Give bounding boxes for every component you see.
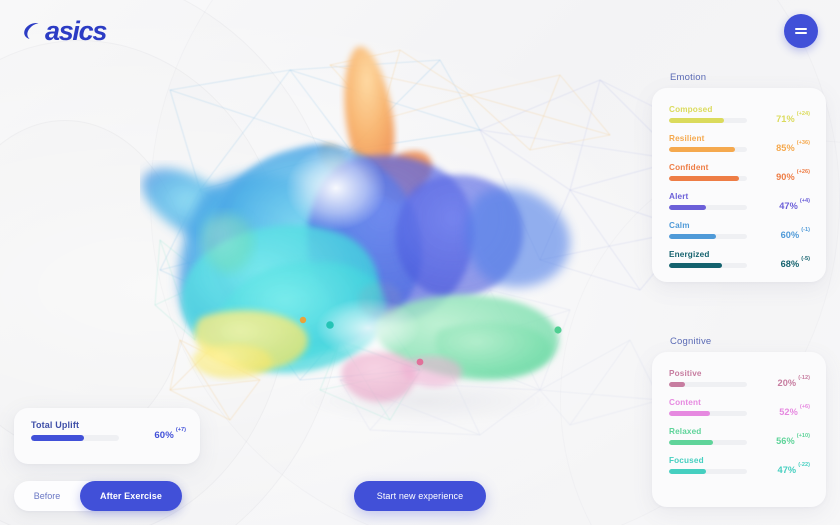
metric-row: Focused47%(-22)	[669, 455, 810, 484]
metric-right: 56%(+10)	[748, 426, 810, 446]
cognitive-metrics-panel: Positive20%(-12)Content52%(+6)Relaxed56%…	[652, 352, 826, 507]
toggle-option-before[interactable]: Before	[14, 481, 80, 511]
metric-row: Composed71%(+24)	[669, 104, 810, 133]
metric-row: Calm60%(-1)	[669, 220, 810, 249]
metric-right: 71%(+24)	[748, 104, 810, 124]
metric-percent: 47%	[779, 201, 798, 211]
blob-lobes	[142, 47, 570, 402]
dot-teal-icon	[326, 321, 334, 329]
metric-right: 60%(-1)	[748, 220, 810, 240]
metric-percent: 85%	[776, 143, 795, 153]
metric-left: Calm	[669, 220, 748, 239]
total-uplift-card: Total Uplift 60% (+7)	[14, 408, 200, 464]
metric-fill	[669, 118, 724, 123]
metric-track	[669, 440, 747, 445]
metric-track	[669, 234, 747, 239]
metric-row: Energized68%(-5)	[669, 249, 810, 278]
metric-right: 20%(-12)	[748, 368, 810, 388]
metric-label: Relaxed	[669, 427, 748, 436]
metric-fill	[669, 469, 706, 474]
visualization-ground-shadow	[300, 378, 550, 424]
metric-track	[669, 469, 747, 474]
metric-track	[669, 176, 747, 181]
total-uplift-percent: 60%	[154, 430, 174, 441]
metric-fill	[669, 234, 716, 239]
metric-row: Relaxed56%(+10)	[669, 426, 810, 455]
app-header: asics	[0, 0, 840, 62]
metric-label: Composed	[669, 105, 748, 114]
metric-left: Composed	[669, 104, 748, 123]
metric-delta: (+36)	[797, 140, 810, 146]
metric-left: Resilient	[669, 133, 748, 152]
metric-delta: (-12)	[798, 375, 810, 381]
metric-label: Energized	[669, 250, 748, 259]
metric-percent: 52%	[779, 407, 798, 417]
metric-fill	[669, 440, 713, 445]
toggle-option-after-exercise[interactable]: After Exercise	[80, 481, 182, 511]
hamburger-menu-button[interactable]	[784, 14, 818, 48]
metric-track	[669, 205, 747, 210]
metric-percent: 71%	[776, 114, 795, 124]
metric-track	[669, 147, 747, 152]
dot-pink-icon	[417, 359, 424, 366]
asics-swoosh-logo-icon	[22, 20, 42, 42]
metric-percent: 47%	[777, 465, 796, 475]
metric-label: Calm	[669, 221, 748, 230]
metric-label: Focused	[669, 456, 748, 465]
metric-left: Energized	[669, 249, 748, 268]
metric-right: 85%(+36)	[748, 133, 810, 153]
brand-name: asics	[45, 16, 106, 47]
accent-dots	[300, 317, 562, 366]
metric-right: 68%(-5)	[748, 249, 810, 269]
metric-fill	[669, 176, 739, 181]
metric-label: Confident	[669, 163, 748, 172]
metric-delta: (-22)	[798, 462, 810, 468]
metric-delta: (-5)	[801, 256, 810, 262]
emotion-section-label: Emotion	[670, 72, 706, 83]
emotion-metrics-panel: Composed71%(+24)Resilient85%(+36)Confide…	[652, 88, 826, 282]
metric-row: Resilient85%(+36)	[669, 133, 810, 162]
metric-delta: (-1)	[801, 227, 810, 233]
metric-delta: (+4)	[800, 198, 810, 204]
metric-fill	[669, 411, 710, 416]
before-after-toggle[interactable]: Before After Exercise	[14, 481, 182, 511]
metric-fill	[669, 147, 735, 152]
metric-fill	[669, 263, 722, 268]
metric-label: Positive	[669, 369, 748, 378]
metric-fill	[669, 382, 685, 387]
metric-left: Content	[669, 397, 748, 416]
metric-percent: 68%	[781, 259, 800, 269]
total-uplift-delta: (+7)	[176, 427, 186, 433]
metric-label: Content	[669, 398, 748, 407]
cognitive-section-label: Cognitive	[670, 336, 711, 347]
metric-right: 52%(+6)	[748, 397, 810, 417]
metric-percent: 20%	[777, 378, 796, 388]
metric-delta: (+10)	[797, 433, 810, 439]
metric-right: 47%(-22)	[748, 455, 810, 475]
metric-label: Resilient	[669, 134, 748, 143]
metric-delta: (+6)	[800, 404, 810, 410]
metric-left: Confident	[669, 162, 748, 181]
metric-row: Positive20%(-12)	[669, 368, 810, 397]
metric-left: Alert	[669, 191, 748, 210]
dot-green-icon	[554, 326, 561, 333]
background-ring-decor	[0, 120, 190, 450]
dot-orange-icon	[300, 317, 306, 323]
metric-track	[669, 382, 747, 387]
total-uplift-label: Total Uplift	[31, 420, 127, 430]
brand-logo[interactable]: asics	[22, 16, 106, 47]
metric-row: Confident90%(+26)	[669, 162, 810, 191]
start-new-experience-button[interactable]: Start new experience	[354, 481, 486, 511]
app-root: asics	[0, 0, 840, 525]
metric-percent: 56%	[776, 436, 795, 446]
metric-row: Content52%(+6)	[669, 397, 810, 426]
cognitive-metrics-list: Positive20%(-12)Content52%(+6)Relaxed56%…	[669, 368, 810, 484]
emotion-metrics-list: Composed71%(+24)Resilient85%(+36)Confide…	[669, 104, 810, 278]
metric-left: Focused	[669, 455, 748, 474]
metric-left: Positive	[669, 368, 748, 387]
total-uplift-track	[31, 435, 119, 441]
metric-fill	[669, 205, 706, 210]
metric-right: 90%(+26)	[748, 162, 810, 182]
wireframe-mesh	[155, 50, 690, 435]
uplift-right: 60% (+7)	[127, 419, 186, 441]
emotion-blob-visualization	[140, 40, 700, 440]
uplift-left: Total Uplift	[31, 419, 127, 441]
total-uplift-fill	[31, 435, 84, 441]
hamburger-menu-icon	[795, 28, 807, 34]
metric-percent: 90%	[776, 172, 795, 182]
metric-label: Alert	[669, 192, 748, 201]
metric-percent: 60%	[781, 230, 800, 240]
metric-track	[669, 411, 747, 416]
metric-track	[669, 118, 747, 123]
metric-row: Alert47%(+4)	[669, 191, 810, 220]
metric-track	[669, 263, 747, 268]
metric-delta: (+26)	[797, 169, 810, 175]
metric-right: 47%(+4)	[748, 191, 810, 211]
metric-left: Relaxed	[669, 426, 748, 445]
metric-delta: (+24)	[797, 111, 810, 117]
